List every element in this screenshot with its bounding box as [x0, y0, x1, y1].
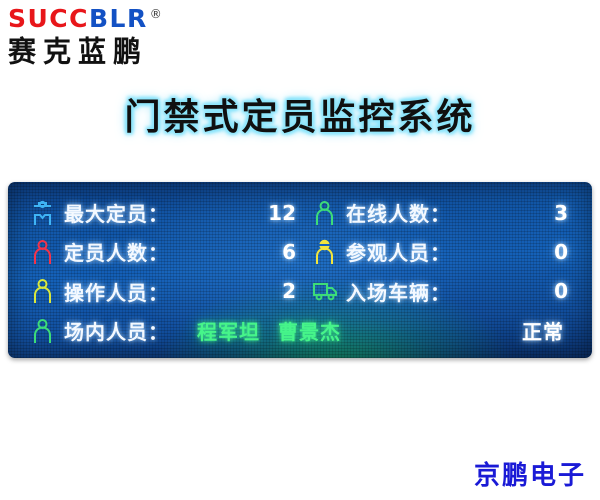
led-value: 6: [169, 240, 308, 264]
person-icon: [308, 200, 342, 226]
person-icon: [26, 278, 60, 304]
person-icon: [26, 239, 60, 265]
led-label: 入场车辆：: [346, 277, 451, 306]
person-helmet-icon: [308, 239, 342, 265]
led-label-personnel-onsite: 场内人员：: [64, 316, 169, 345]
led-value: 3: [451, 201, 580, 225]
led-field-online-count: 在线人数： 3: [308, 198, 580, 227]
led-row-personnel-onsite: 场内人员： 程军坦 曹景杰 正常: [26, 314, 576, 348]
led-value: 0: [451, 240, 580, 264]
led-row: 最大定员： 12 在线人数： 3: [26, 196, 576, 229]
led-content-grid: 最大定员： 12 在线人数： 3: [8, 182, 592, 358]
led-row: 操作人员： 2 入场车辆： 0: [26, 275, 576, 308]
person-icon: [26, 318, 60, 344]
company-logo: SUCCBLR® 赛克蓝鹏: [8, 6, 238, 72]
led-label: 参观人员：: [346, 237, 451, 266]
led-display-panel: 最大定员： 12 在线人数： 3: [8, 182, 592, 358]
logo-wordmark: SUCCBLR®: [8, 6, 238, 34]
registered-trademark-icon: ®: [150, 7, 162, 21]
truck-icon: [308, 280, 342, 302]
personnel-name: 曹景杰: [278, 316, 341, 345]
led-value: 0: [451, 279, 580, 303]
led-field-max-capacity: 最大定员： 12: [26, 198, 308, 227]
footer-brand: 京鹏电子: [474, 455, 586, 492]
personnel-name: 程军坦: [197, 316, 260, 345]
status-badge: 正常: [522, 316, 576, 345]
person-cap-icon: [26, 200, 60, 226]
led-label: 最大定员：: [64, 198, 169, 227]
led-value: 12: [169, 201, 308, 225]
led-label: 操作人员：: [64, 277, 169, 306]
logo-chinese-name: 赛克蓝鹏: [8, 37, 238, 67]
logo-wordmark-red: SUCC: [8, 4, 89, 33]
page-title: 门禁式定员监控系统: [0, 88, 600, 140]
personnel-name-list: 程军坦 曹景杰: [169, 316, 522, 345]
led-label: 在线人数：: [346, 198, 451, 227]
led-field-operator-count: 操作人员： 2: [26, 277, 308, 306]
led-value: 2: [169, 279, 308, 303]
logo-wordmark-blue: BLR: [89, 4, 148, 33]
led-row: 定员人数： 6 参观人员： 0: [26, 235, 576, 268]
led-field-assigned-count: 定员人数： 6: [26, 237, 308, 266]
led-label: 定员人数：: [64, 237, 169, 266]
led-field-vehicle-count: 入场车辆： 0: [308, 277, 580, 306]
led-field-visitor-count: 参观人员： 0: [308, 237, 580, 266]
